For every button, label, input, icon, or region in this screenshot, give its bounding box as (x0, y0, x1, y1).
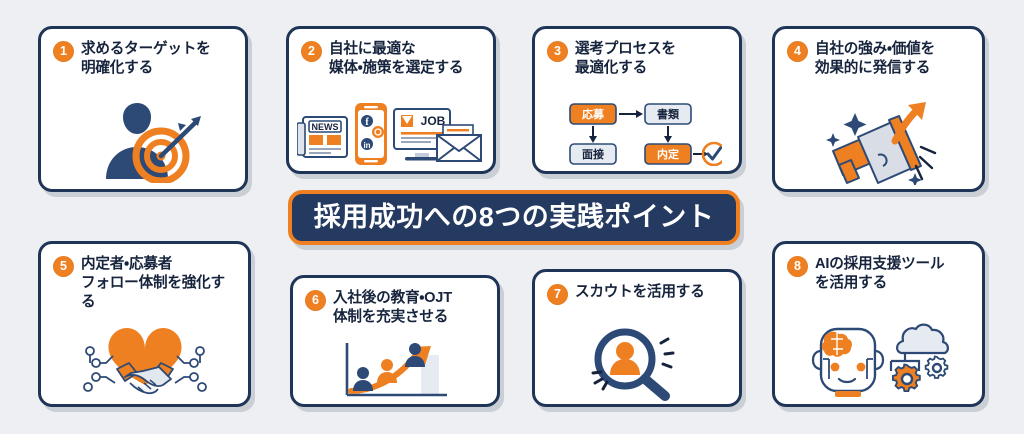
card-4-header: 4 自社の強み・価値を 効果的に発信する (775, 29, 982, 78)
flow-step-3: 面接 (582, 147, 604, 161)
megaphone-arrow-icon (775, 99, 982, 185)
card-6[interactable]: 6 入社後の教育・OJT 体制を充実させる (290, 275, 500, 407)
card-6-number-badge: 6 (305, 290, 326, 311)
card-3-title: 選考プロセスを 最適化する (575, 40, 676, 78)
person-target-icon (41, 99, 245, 185)
infographic-canvas: 1 求めるターゲットを 明確化する 2 自社に最適な 媒体・施策を選定する (0, 0, 1024, 434)
card-7-title: スカウトを活用する (575, 283, 705, 302)
svg-text:in: in (363, 141, 370, 150)
center-banner: 採用成功への8つの実践ポイント (288, 190, 740, 245)
card-2-title: 自社に最適な 媒体・施策を選定する (329, 40, 463, 78)
card-4[interactable]: 4 自社の強み・価値を 効果的に発信する (772, 26, 985, 192)
card-1[interactable]: 1 求めるターゲットを 明確化する (38, 26, 248, 192)
flow-step-1: 応募 (582, 107, 605, 121)
card-8-title: AIの採用支援ツール を活用する (815, 255, 944, 293)
card-2-header: 2 自社に最適な 媒体・施策を選定する (289, 29, 493, 78)
media-channels-icon: NEWS f in (289, 99, 493, 169)
card-1-number-badge: 1 (53, 41, 74, 62)
card-8[interactable]: 8 AIの採用支援ツール を活用する (772, 241, 985, 407)
growth-chart-people-icon (293, 340, 497, 402)
card-7-number-badge: 7 (547, 284, 568, 305)
news-label: NEWS (312, 122, 339, 132)
card-7-header: 7 スカウトを活用する (535, 272, 739, 305)
card-8-number-badge: 8 (787, 256, 808, 277)
card-1-header: 1 求めるターゲットを 明確化する (41, 29, 245, 78)
card-6-title: 入社後の教育・OJT 体制を充実させる (333, 289, 452, 327)
card-7[interactable]: 7 スカウトを活用する (532, 269, 742, 407)
card-3-header: 3 選考プロセスを 最適化する (535, 29, 739, 78)
job-label: JOB (421, 114, 446, 128)
card-4-title: 自社の強み・価値を 効果的に発信する (815, 40, 935, 78)
card-5-title: 内定者・応募者 フォロー体制を強化する (81, 255, 238, 312)
card-5-number-badge: 5 (53, 256, 74, 277)
ai-robot-gears-icon (775, 316, 982, 400)
magnifier-person-icon (535, 326, 739, 402)
card-3[interactable]: 3 選考プロセスを 最適化する 応募 書類 面接 内定 (532, 26, 742, 174)
card-1-title: 求めるターゲットを 明確化する (81, 40, 211, 78)
card-5-header: 5 内定者・応募者 フォロー体制を強化する (41, 244, 248, 312)
card-8-header: 8 AIの採用支援ツール を活用する (775, 244, 982, 293)
card-3-number-badge: 3 (547, 41, 568, 62)
selection-flow-icon: 応募 書類 面接 内定 (535, 101, 739, 167)
heart-handshake-icon (41, 320, 248, 400)
flow-step-4: 内定 (657, 147, 679, 161)
card-2[interactable]: 2 自社に最適な 媒体・施策を選定する NEWS (286, 26, 496, 174)
card-6-header: 6 入社後の教育・OJT 体制を充実させる (293, 278, 497, 327)
banner-title: 採用成功への8つの実践ポイント (314, 204, 715, 231)
flow-step-2: 書類 (657, 107, 680, 121)
card-2-number-badge: 2 (301, 41, 322, 62)
card-4-number-badge: 4 (787, 41, 808, 62)
card-5[interactable]: 5 内定者・応募者 フォロー体制を強化する (38, 241, 251, 407)
